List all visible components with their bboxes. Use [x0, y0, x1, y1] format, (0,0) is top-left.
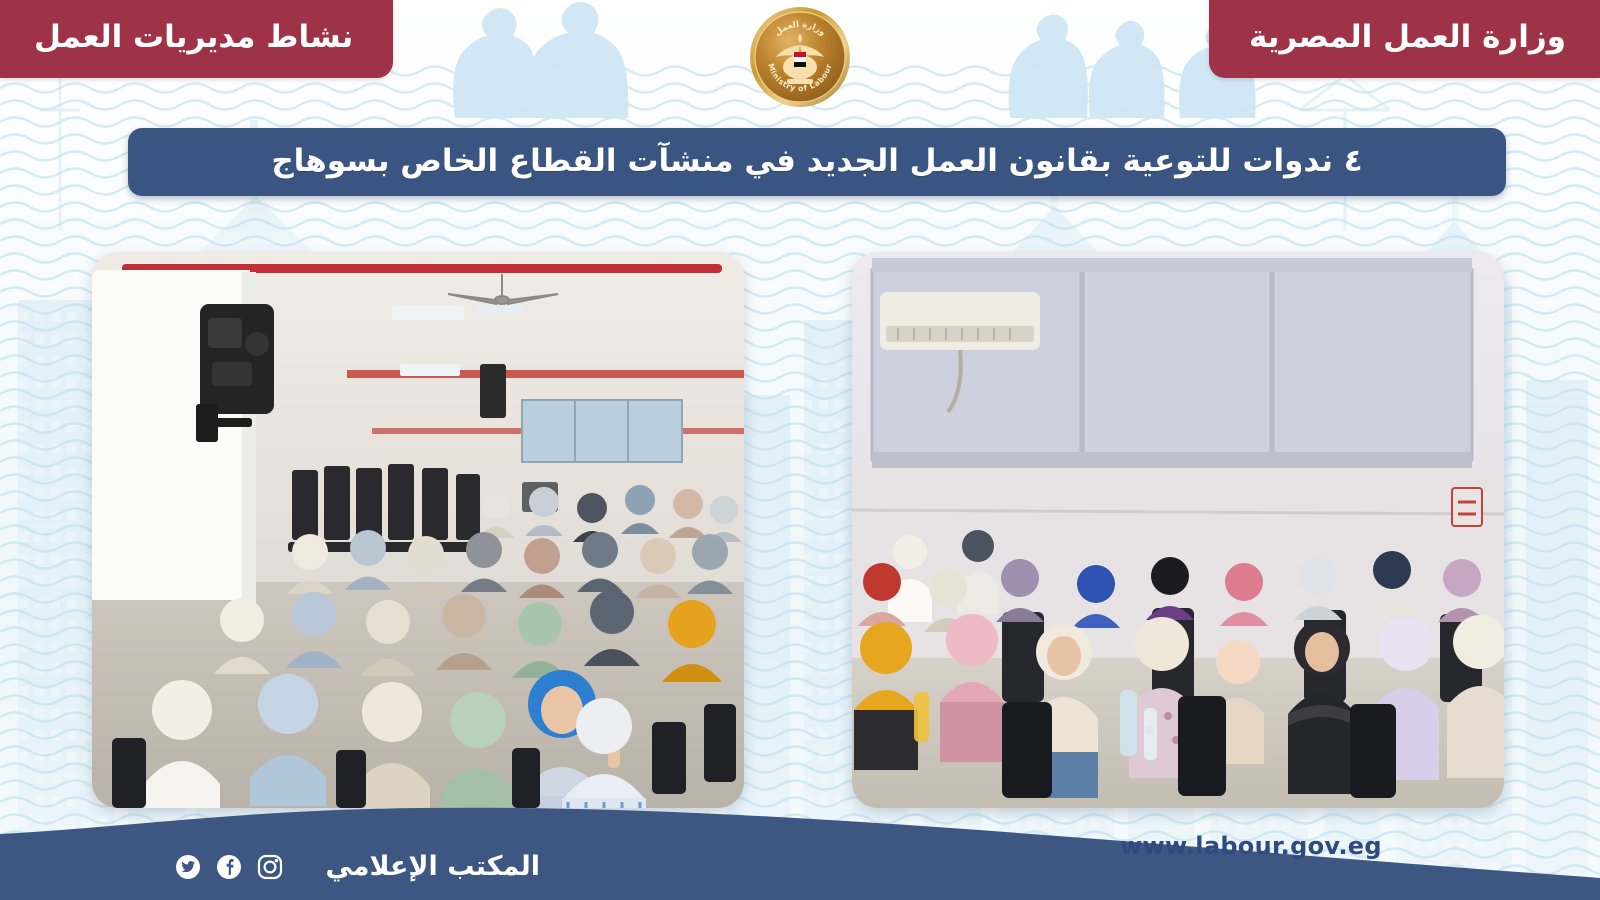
ribbon-ministry-label: وزارة العمل المصرية: [1249, 22, 1566, 53]
ribbon-activity: نشاط مديريات العمل: [0, 0, 393, 78]
ribbon-ministry: وزارة العمل المصرية: [1209, 0, 1600, 78]
page-title: ٤ ندوات للتوعية بقانون العمل الجديد في م…: [128, 128, 1506, 196]
twitter-icon[interactable]: [175, 854, 201, 880]
instagram-icon[interactable]: [257, 854, 283, 880]
seminar-photo-left: [92, 252, 744, 808]
seminar-photo-right: [852, 252, 1504, 808]
website-url[interactable]: www.labour.gov.eg: [1120, 832, 1382, 860]
ministry-of-labour-seal-icon: وزارة العمل Ministry of Labour: [748, 5, 852, 109]
infographic-card: نشاط مديريات العمل وزارة العمل المصرية: [0, 0, 1600, 900]
social-links: [175, 854, 283, 880]
ribbon-activity-label: نشاط مديريات العمل: [34, 22, 353, 53]
page-title-text: ٤ ندوات للتوعية بقانون العمل الجديد في م…: [271, 144, 1362, 180]
photo-left-illustration: [92, 252, 744, 808]
facebook-icon[interactable]: [216, 854, 242, 880]
photo-right-illustration: [852, 252, 1504, 808]
